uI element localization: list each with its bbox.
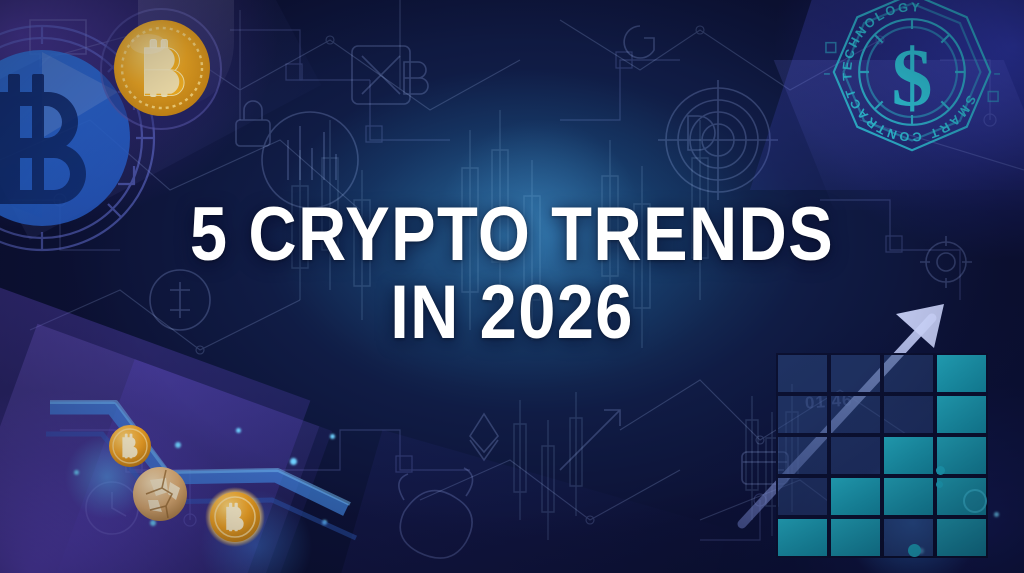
banner-title: 5 CRYPTO TRENDS IN 2026: [0, 196, 1024, 352]
title-line-2: IN 2026: [61, 274, 962, 352]
title-line-1: 5 CRYPTO TRENDS: [61, 196, 962, 274]
crypto-trends-banner: 01.46: [0, 0, 1024, 573]
